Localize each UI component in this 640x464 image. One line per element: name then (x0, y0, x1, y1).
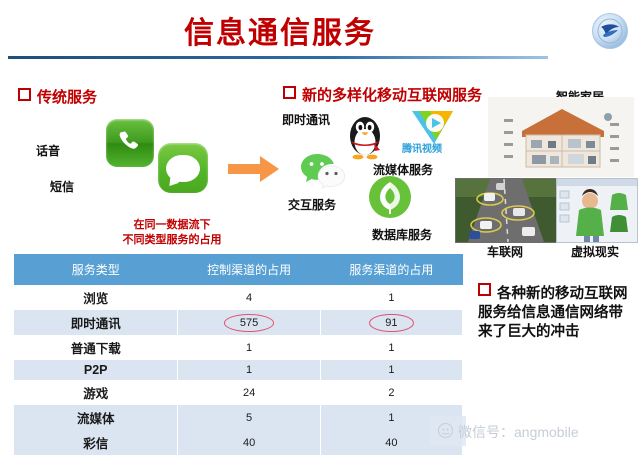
conclusion-text: 各种新的移动互联网服务给信息通信网络带来了巨大的冲击 (478, 283, 636, 342)
cell-service-type: 普通下载 (14, 335, 178, 360)
qq-penguin-icon (344, 112, 386, 165)
bullet-square-icon (283, 86, 296, 99)
traditional-heading: 传统服务 (18, 86, 97, 107)
cell-service-channel: 2 (320, 380, 462, 405)
cell-control-channel: 575 (178, 310, 320, 335)
cell-service-type: 彩信 (14, 430, 178, 455)
connected-vehicles-photo (455, 178, 557, 243)
conclusion-body: 各种新的移动互联网服务给信息通信网络带来了巨大的冲击 (478, 286, 628, 340)
cell-service-type: P2P (14, 360, 178, 380)
cell-control-channel: 1 (178, 335, 320, 360)
message-bubble-icon (158, 143, 208, 193)
highlighted-value: 575 (224, 316, 274, 330)
table-body: 浏览41即时通讯57591普通下载11P2P11游戏242流媒体51彩信4040 (14, 285, 463, 455)
bullet-square-icon (478, 283, 491, 296)
cell-service-channel: 1 (320, 360, 462, 380)
highlight-ellipse (369, 314, 413, 332)
column-header-service-type: 服务类型 (14, 254, 178, 285)
label-sms: 短信 (50, 178, 74, 195)
cell-service-type: 游戏 (14, 380, 178, 405)
label-iov: 车联网 (487, 243, 523, 260)
cell-service-channel: 1 (320, 335, 462, 360)
title-underline (8, 56, 548, 59)
watermark-text: 微信号：angmobile (458, 422, 579, 442)
label-instant-messaging: 即时通讯 (282, 111, 330, 128)
highlighted-value: 91 (369, 316, 413, 330)
bullet-square-icon (18, 88, 31, 101)
table-row: P2P11 (14, 360, 463, 380)
cell-service-type: 浏览 (14, 285, 178, 310)
watermark: 微信号：angmobile (438, 422, 579, 442)
cell-service-channel: 91 (320, 310, 462, 335)
new-services-heading: 新的多样化移动互联网服务 (283, 84, 482, 105)
slide-canvas: 信息通信服务 传统服务 话音 短信 在同一数据流下 不同类型服务的占用 新的多样… (0, 0, 640, 464)
column-header-service-channel: 服务渠道的占用 (320, 254, 462, 285)
highlight-ellipse (224, 314, 274, 332)
label-database-service: 数据库服务 (372, 226, 432, 243)
phone-icon (106, 119, 154, 167)
cell-control-channel: 40 (178, 430, 320, 455)
cell-control-channel: 1 (178, 360, 320, 380)
cell-service-type: 即时通讯 (14, 310, 178, 335)
cell-control-channel: 5 (178, 405, 320, 430)
cell-control-channel: 4 (178, 285, 320, 310)
note-line-2: 不同类型服务的占用 (82, 233, 262, 248)
mongodb-leaf-icon (368, 175, 412, 224)
table-row: 即时通讯57591 (14, 310, 463, 335)
smart-home-photo (488, 97, 634, 177)
label-interactive-service: 交互服务 (288, 196, 336, 213)
table-row: 浏览41 (14, 285, 463, 310)
cell-service-channel: 1 (320, 285, 462, 310)
wechat-icon (300, 152, 346, 197)
wechat-circle-icon (438, 423, 453, 441)
label-vr: 虚拟现实 (571, 243, 619, 260)
data-flow-note: 在同一数据流下 不同类型服务的占用 (82, 218, 262, 248)
table-header-row: 服务类型 控制渠道的占用 服务渠道的占用 (14, 254, 463, 285)
page-title: 信息通信服务 (0, 8, 560, 52)
right-arrow-icon (228, 155, 280, 188)
table-row: 游戏242 (14, 380, 463, 405)
service-occupancy-table: 服务类型 控制渠道的占用 服务渠道的占用 浏览41即时通讯57591普通下载11… (13, 254, 463, 455)
label-voice: 话音 (36, 142, 60, 159)
table-row: 流媒体51 (14, 405, 463, 430)
cell-control-channel: 24 (178, 380, 320, 405)
swallow-bird-logo (592, 13, 628, 49)
virtual-fitting-room-photo (556, 178, 638, 243)
tencent-video-wordmark: 腾讯视频 (402, 140, 442, 155)
note-line-1: 在同一数据流下 (82, 218, 262, 233)
table-row: 普通下载11 (14, 335, 463, 360)
column-header-control-channel: 控制渠道的占用 (178, 254, 320, 285)
cell-service-type: 流媒体 (14, 405, 178, 430)
table-row: 彩信4040 (14, 430, 463, 455)
